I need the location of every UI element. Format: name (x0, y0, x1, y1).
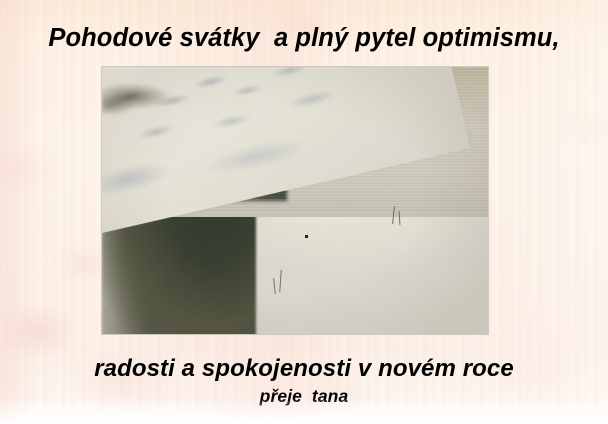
greeting-card: Pohodové svátky a plný pytel optimismu, … (0, 0, 608, 424)
paper-bottom-fade (0, 398, 608, 424)
greeting-line-top: Pohodové svátky a plný pytel optimismu, (0, 24, 608, 53)
winter-river-photo (102, 67, 488, 334)
photo-vignette (102, 67, 488, 334)
greeting-line-bottom: radosti a spokojenosti v novém roce (0, 355, 608, 383)
